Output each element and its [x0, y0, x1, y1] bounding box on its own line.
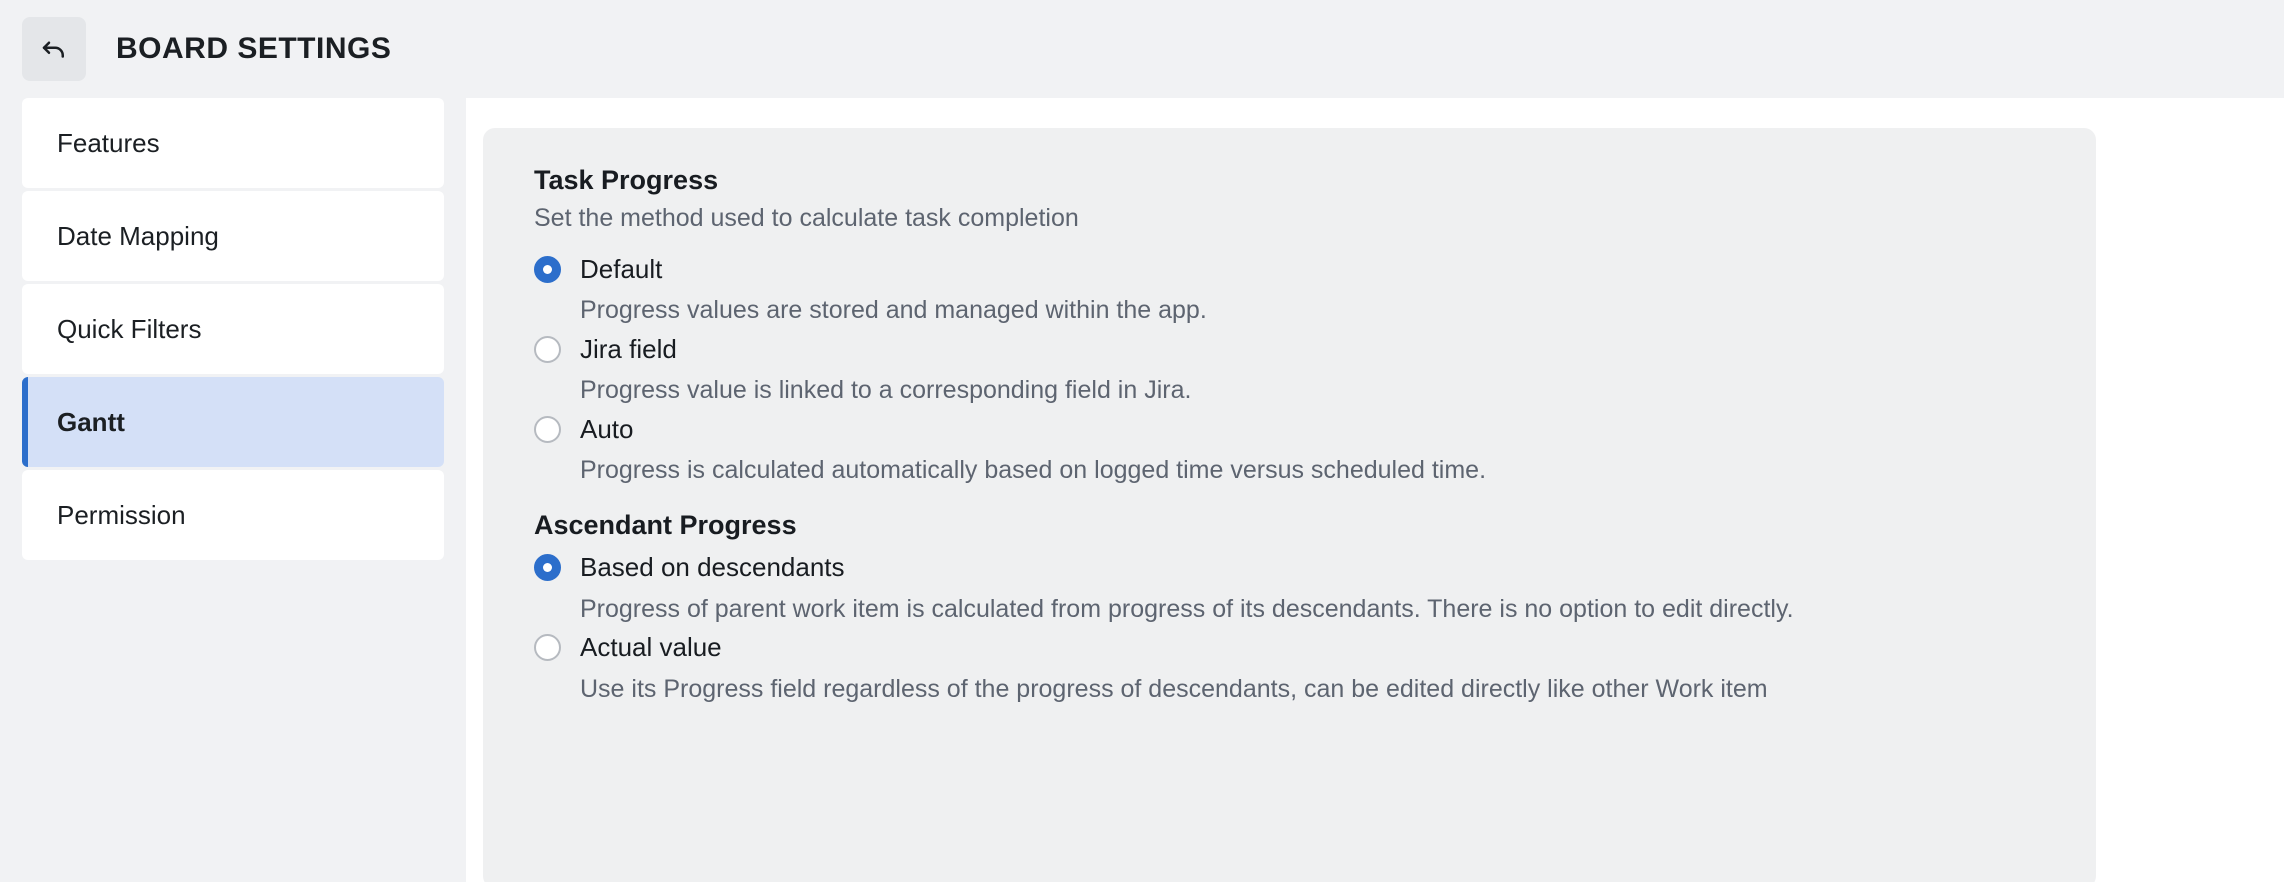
- sidebar-item-quick-filters[interactable]: Quick Filters: [22, 284, 444, 374]
- radio-based-on-descendants[interactable]: [534, 554, 561, 581]
- radio-label-jira-field[interactable]: Jira field: [580, 333, 677, 366]
- sidebar-item-gantt[interactable]: Gantt: [22, 377, 444, 467]
- radio-label-based-on-descendants[interactable]: Based on descendants: [580, 551, 845, 584]
- radio-description-actual-value: Use its Progress field regardless of the…: [580, 673, 2056, 706]
- radio-option-auto[interactable]: Auto: [534, 413, 2056, 446]
- back-arrow-icon: [39, 34, 69, 64]
- radio-actual-value[interactable]: [534, 634, 561, 661]
- settings-content: Task Progress Set the method used to cal…: [466, 98, 2284, 882]
- radio-description-based-on-descendants: Progress of parent work item is calculat…: [580, 593, 2056, 626]
- sidebar-item-label: Date Mapping: [57, 221, 219, 252]
- radio-description-auto: Progress is calculated automatically bas…: [580, 454, 2056, 487]
- page-header: BOARD SETTINGS: [0, 0, 2284, 98]
- radio-description-jira-field: Progress value is linked to a correspond…: [580, 374, 2056, 407]
- ascendant-progress-radio-group: Based on descendants Progress of parent …: [534, 551, 2056, 705]
- radio-option-jira-field[interactable]: Jira field: [534, 333, 2056, 366]
- radio-option-actual-value[interactable]: Actual value: [534, 631, 2056, 664]
- radio-auto[interactable]: [534, 416, 561, 443]
- sidebar-item-label: Quick Filters: [57, 314, 201, 345]
- task-progress-subtitle: Set the method used to calculate task co…: [534, 202, 2056, 235]
- sidebar-item-label: Gantt: [57, 407, 125, 438]
- back-button[interactable]: [22, 17, 86, 81]
- radio-option-based-on-descendants[interactable]: Based on descendants: [534, 551, 2056, 584]
- radio-label-auto[interactable]: Auto: [580, 413, 634, 446]
- ascendant-progress-heading: Ascendant Progress: [534, 509, 2056, 541]
- sidebar-item-permission[interactable]: Permission: [22, 470, 444, 560]
- radio-default[interactable]: [534, 256, 561, 283]
- sidebar-item-date-mapping[interactable]: Date Mapping: [22, 191, 444, 281]
- section-spacer: [534, 487, 2056, 509]
- radio-description-default: Progress values are stored and managed w…: [580, 294, 2056, 327]
- gantt-settings-panel: Task Progress Set the method used to cal…: [483, 128, 2096, 882]
- radio-label-actual-value[interactable]: Actual value: [580, 631, 722, 664]
- radio-jira-field[interactable]: [534, 336, 561, 363]
- sidebar-item-features[interactable]: Features: [22, 98, 444, 188]
- page-title: BOARD SETTINGS: [116, 32, 391, 66]
- board-settings-page: BOARD SETTINGS Features Date Mapping Qui…: [0, 0, 2284, 882]
- task-progress-heading: Task Progress: [534, 164, 2056, 196]
- settings-sidebar: Features Date Mapping Quick Filters Gant…: [0, 98, 466, 882]
- task-progress-radio-group: Default Progress values are stored and m…: [534, 253, 2056, 487]
- sidebar-item-label: Permission: [57, 500, 186, 531]
- radio-label-default[interactable]: Default: [580, 253, 662, 286]
- sidebar-item-label: Features: [57, 128, 160, 159]
- radio-option-default[interactable]: Default: [534, 253, 2056, 286]
